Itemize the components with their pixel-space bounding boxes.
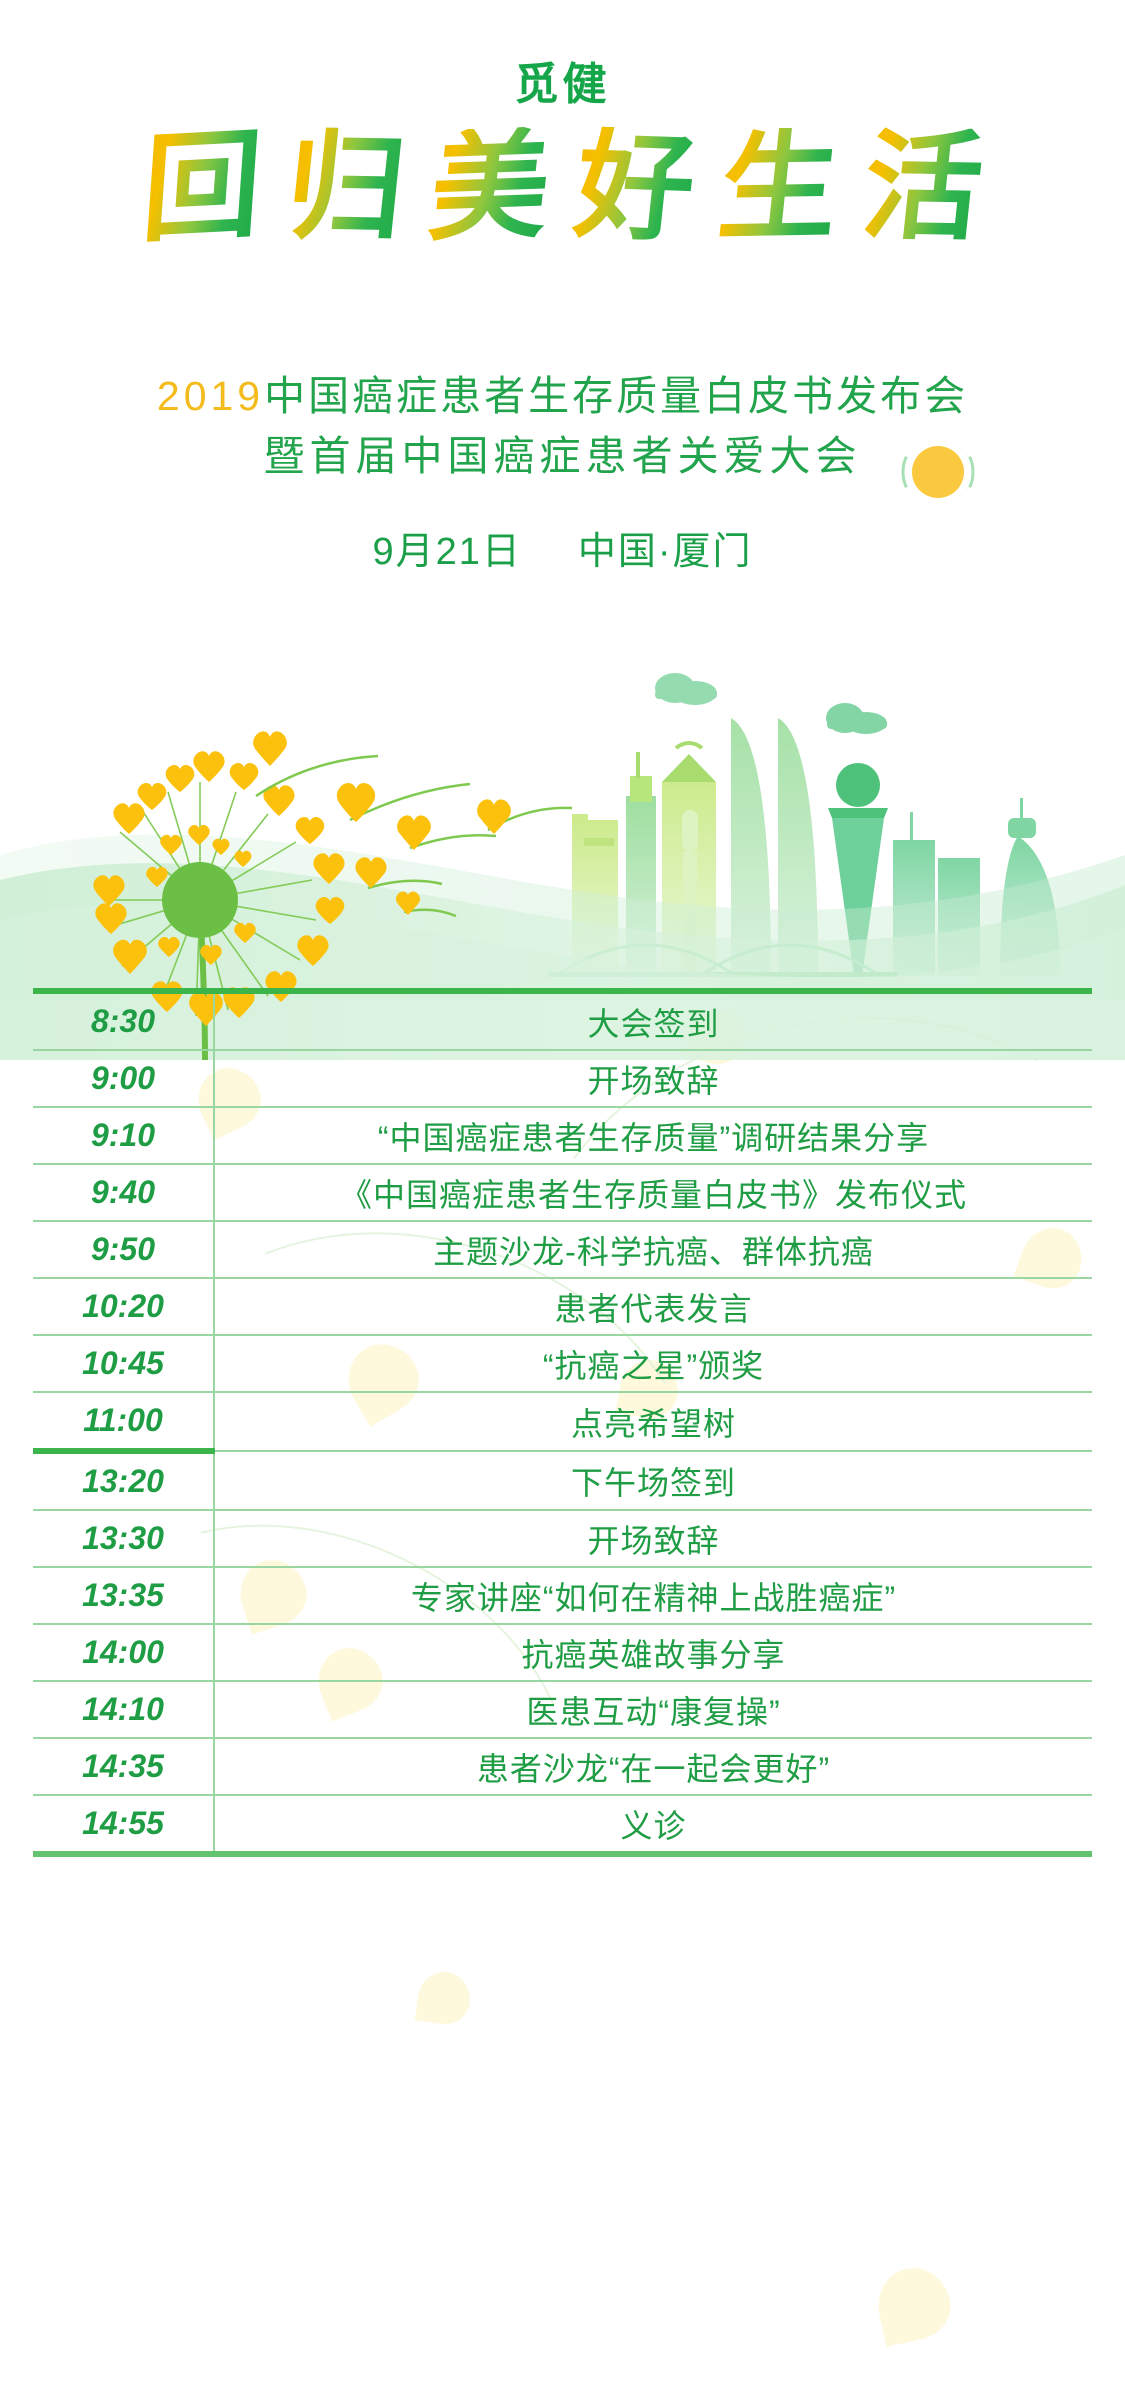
event-location: 中国·厦门	[578, 531, 753, 573]
title-char: 归	[281, 127, 411, 247]
row-time: 9:00	[33, 1050, 214, 1107]
table-row[interactable]: 9:10“中国癌症患者生存质量”调研结果分享	[33, 1107, 1092, 1164]
schedule-body: 8:30大会签到 9:00开场致辞 9:10“中国癌症患者生存质量”调研结果分享…	[33, 994, 1092, 1851]
row-title: “中国癌症患者生存质量”调研结果分享	[214, 1107, 1092, 1164]
illustration-svg	[0, 400, 1125, 1060]
row-time: 9:40	[33, 1164, 214, 1221]
row-title: “抗癌之星”颁奖	[214, 1335, 1092, 1392]
table-row[interactable]: 14:00抗癌英雄故事分享	[33, 1624, 1092, 1681]
subtitle-line-2: 暨首届中国癌症患者关爱大会	[0, 422, 1125, 482]
table-row[interactable]: 11:00点亮希望树	[33, 1392, 1092, 1451]
heart-watermark	[415, 1969, 474, 2028]
row-title: 开场致辞	[214, 1510, 1092, 1567]
subtitle-year: 2019	[157, 373, 264, 419]
row-title: 义诊	[214, 1795, 1092, 1851]
row-title: 大会签到	[214, 994, 1092, 1050]
row-title: 患者代表发言	[214, 1278, 1092, 1335]
table-row[interactable]: 13:35专家讲座“如何在精神上战胜癌症”	[33, 1567, 1092, 1624]
row-title: 开场致辞	[214, 1050, 1092, 1107]
event-date: 9月21日	[372, 531, 521, 573]
title-char: 回	[139, 125, 266, 249]
row-title: 下午场签到	[214, 1451, 1092, 1510]
poster-root: 觅健 回归美好生活 2019中国癌症患者生存质量白皮书发布会 暨首届中国癌症患者…	[0, 0, 1125, 2381]
row-time: 10:45	[33, 1335, 214, 1392]
row-title: 点亮希望树	[214, 1392, 1092, 1451]
row-time: 14:55	[33, 1795, 214, 1851]
table-row[interactable]: 14:35患者沙龙“在一起会更好”	[33, 1738, 1092, 1795]
cloud-icon	[655, 673, 717, 705]
row-time: 9:50	[33, 1221, 214, 1278]
row-time: 11:00	[33, 1392, 214, 1451]
main-title: 回归美好生活	[0, 128, 1125, 246]
row-title: 抗癌英雄故事分享	[214, 1624, 1092, 1681]
subtitle-line-1: 2019中国癌症患者生存质量白皮书发布会	[0, 362, 1125, 422]
title-char: 美	[425, 126, 556, 248]
row-time: 14:10	[33, 1681, 214, 1738]
row-title: 主题沙龙-科学抗癌、群体抗癌	[214, 1221, 1092, 1278]
event-datetime-location: 9月21日中国·厦门	[0, 520, 1125, 575]
subtitle-line-1-text: 中国癌症患者生存质量白皮书发布会	[264, 373, 968, 419]
illustration-band	[0, 400, 1125, 1060]
table-row[interactable]: 14:55义诊	[33, 1795, 1092, 1851]
schedule-table: 8:30大会签到 9:00开场致辞 9:10“中国癌症患者生存质量”调研结果分享…	[33, 988, 1092, 1857]
row-title: 医患互动“康复操”	[214, 1681, 1092, 1738]
table-row[interactable]: 10:45“抗癌之星”颁奖	[33, 1335, 1092, 1392]
row-time: 8:30	[33, 994, 214, 1050]
title-char: 活	[857, 127, 987, 247]
row-time: 10:20	[33, 1278, 214, 1335]
brand-logo: 觅健	[0, 48, 1125, 112]
table-row[interactable]: 13:20下午场签到	[33, 1451, 1092, 1510]
table-row[interactable]: 9:40《中国癌症患者生存质量白皮书》发布仪式	[33, 1164, 1092, 1221]
table-row[interactable]: 13:30开场致辞	[33, 1510, 1092, 1567]
row-time: 14:35	[33, 1738, 214, 1795]
cloud-icon	[826, 703, 887, 734]
table-row[interactable]: 8:30大会签到	[33, 994, 1092, 1050]
table-row[interactable]: 9:00开场致辞	[33, 1050, 1092, 1107]
row-time: 14:00	[33, 1624, 214, 1681]
heart-watermark	[871, 2261, 956, 2346]
title-char: 生	[713, 127, 844, 247]
table-row[interactable]: 9:50主题沙龙-科学抗癌、群体抗癌	[33, 1221, 1092, 1278]
title-char: 好	[569, 126, 699, 248]
table-row[interactable]: 10:20患者代表发言	[33, 1278, 1092, 1335]
row-title: 患者沙龙“在一起会更好”	[214, 1738, 1092, 1795]
row-time: 9:10	[33, 1107, 214, 1164]
table-row[interactable]: 14:10医患互动“康复操”	[33, 1681, 1092, 1738]
schedule-rows: 8:30大会签到 9:00开场致辞 9:10“中国癌症患者生存质量”调研结果分享…	[33, 994, 1092, 1851]
row-time: 13:30	[33, 1510, 214, 1567]
row-title: 《中国癌症患者生存质量白皮书》发布仪式	[214, 1164, 1092, 1221]
schedule-bottom-rule	[33, 1851, 1092, 1857]
row-title: 专家讲座“如何在精神上战胜癌症”	[214, 1567, 1092, 1624]
row-time: 13:20	[33, 1451, 214, 1510]
row-time: 13:35	[33, 1567, 214, 1624]
